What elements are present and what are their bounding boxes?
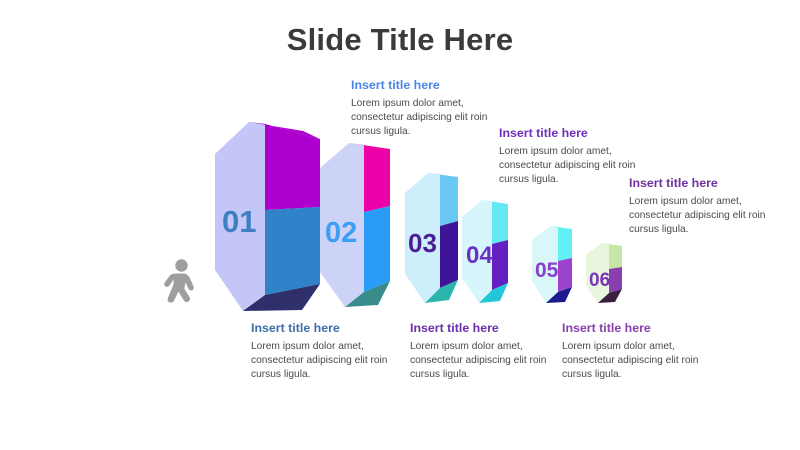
callout-block-03[interactable]: Insert title here Lorem ipsum dolor amet… (629, 176, 781, 237)
callout-body-04: Lorem ipsum dolor amet, consectetur adip… (251, 340, 403, 382)
callout-title-02: Insert title here (499, 126, 651, 142)
slide-canvas: Slide Title Here 01 02 (0, 0, 800, 450)
callout-title-01: Insert title here (351, 78, 503, 94)
step-shape-01[interactable]: 01 (215, 122, 320, 311)
step-06-side-top-face (609, 245, 622, 269)
step-04-number: 04 (466, 242, 493, 269)
step-shape-04[interactable]: 04 (462, 200, 508, 303)
callout-block-05[interactable]: Insert title here Lorem ipsum dolor amet… (410, 321, 562, 382)
step-02-side-top-face (364, 145, 390, 212)
step-04-side-face (492, 240, 508, 290)
step-02-side-face (364, 206, 390, 292)
callout-body-01: Lorem ipsum dolor amet, consectetur adip… (351, 97, 503, 139)
step-06-side-face (609, 267, 622, 293)
callout-body-05: Lorem ipsum dolor amet, consectetur adip… (410, 340, 562, 382)
callout-title-06: Insert title here (562, 321, 714, 337)
callout-block-04[interactable]: Insert title here Lorem ipsum dolor amet… (251, 321, 403, 382)
step-01-number: 01 (222, 204, 256, 239)
step-01-side-face (265, 207, 320, 295)
callout-title-04: Insert title here (251, 321, 403, 337)
step-shape-05[interactable]: 05 (532, 226, 572, 303)
step-03-side-top-face (440, 175, 458, 226)
callout-block-06[interactable]: Insert title here Lorem ipsum dolor amet… (562, 321, 714, 382)
step-05-side-face (558, 258, 572, 292)
step-03-number: 03 (408, 228, 437, 258)
step-shape-03[interactable]: 03 (405, 173, 458, 303)
callout-title-05: Insert title here (410, 321, 562, 337)
step-02-number: 02 (325, 217, 357, 249)
step-04-side-top-face (492, 202, 508, 244)
callout-body-03: Lorem ipsum dolor amet, consectetur adip… (629, 195, 781, 237)
step-shape-06[interactable]: 06 (586, 243, 622, 303)
step-06-number: 06 (589, 270, 610, 291)
callout-title-03: Insert title here (629, 176, 781, 192)
step-shape-02[interactable]: 02 (320, 143, 390, 307)
step-01-side-top-face (265, 124, 320, 210)
callout-body-06: Lorem ipsum dolor amet, consectetur adip… (562, 340, 714, 382)
step-05-side-top-face (558, 228, 572, 261)
step-03-side-face (440, 221, 458, 288)
callout-block-01[interactable]: Insert title here Lorem ipsum dolor amet… (351, 78, 503, 139)
step-05-number: 05 (535, 259, 559, 282)
